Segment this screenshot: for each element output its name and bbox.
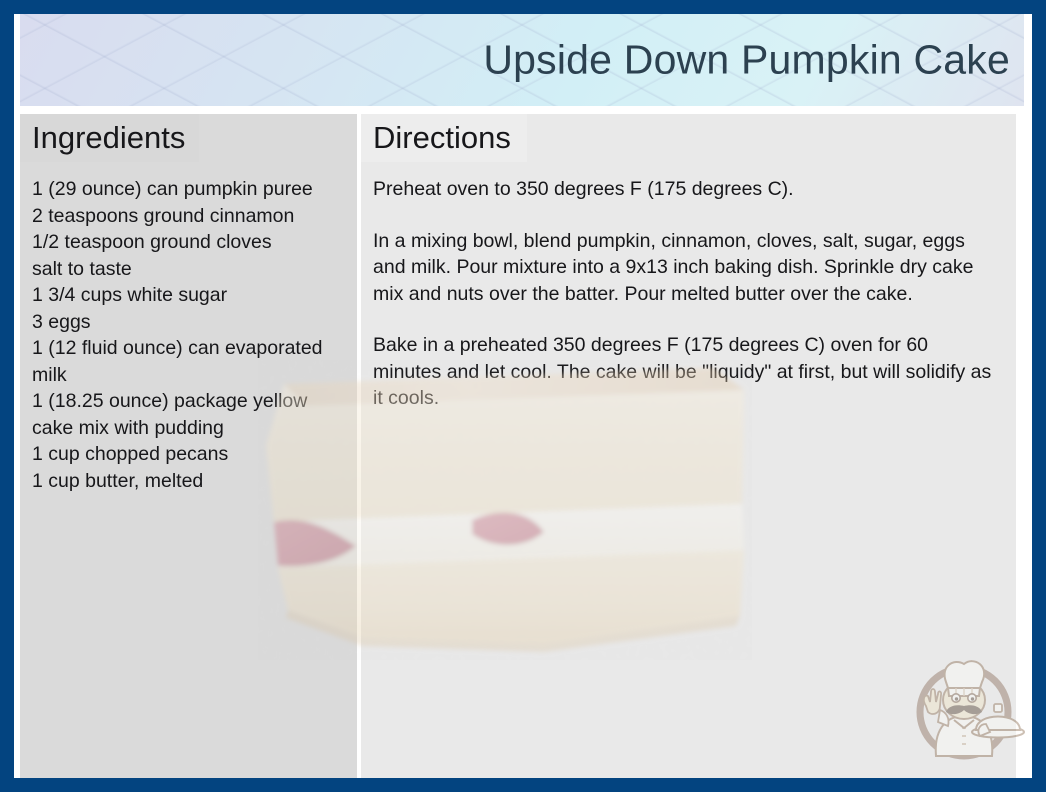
- list-item: 1 3/4 cups white sugar: [32, 282, 347, 309]
- recipe-panels: Ingredients 1 (29 ounce) can pumpkin pur…: [14, 114, 1032, 778]
- list-item: salt to taste: [32, 256, 347, 283]
- list-item: 1 cup butter, melted: [32, 468, 347, 495]
- directions-text: Preheat oven to 350 degrees F (175 degre…: [373, 176, 1006, 412]
- direction-paragraph: Bake in a preheated 350 degrees F (175 d…: [373, 332, 998, 412]
- recipe-card: Upside Down Pumpkin Cake Ingredients 1 (…: [0, 0, 1046, 792]
- header-banner: Upside Down Pumpkin Cake: [20, 14, 1024, 106]
- direction-paragraph: Preheat oven to 350 degrees F (175 degre…: [373, 176, 998, 203]
- list-item: 3 eggs: [32, 309, 347, 336]
- list-item: 1 (12 fluid ounce) can evaporated: [32, 335, 347, 362]
- directions-panel: Directions Preheat oven to 350 degrees F…: [361, 114, 1016, 778]
- list-item: 1 (29 ounce) can pumpkin puree: [32, 176, 347, 203]
- list-item: 1 cup chopped pecans: [32, 441, 347, 468]
- direction-paragraph: In a mixing bowl, blend pumpkin, cinnamo…: [373, 228, 998, 308]
- list-item: 1 (18.25 ounce) package yellow: [32, 388, 347, 415]
- tab-directions-label: Directions: [373, 120, 511, 156]
- list-item: cake mix with pudding: [32, 415, 347, 442]
- ingredients-panel: Ingredients 1 (29 ounce) can pumpkin pur…: [20, 114, 357, 778]
- tab-ingredients[interactable]: Ingredients: [20, 114, 199, 162]
- list-item: 2 teaspoons ground cinnamon: [32, 203, 347, 230]
- list-item: milk: [32, 362, 347, 389]
- ingredients-list: 1 (29 ounce) can pumpkin puree 2 teaspoo…: [32, 176, 347, 494]
- tab-ingredients-label: Ingredients: [32, 120, 185, 156]
- list-item: 1/2 teaspoon ground cloves: [32, 229, 347, 256]
- page-title: Upside Down Pumpkin Cake: [483, 37, 1010, 84]
- tab-directions[interactable]: Directions: [361, 114, 527, 162]
- card-inner-surface: Upside Down Pumpkin Cake Ingredients 1 (…: [14, 14, 1032, 778]
